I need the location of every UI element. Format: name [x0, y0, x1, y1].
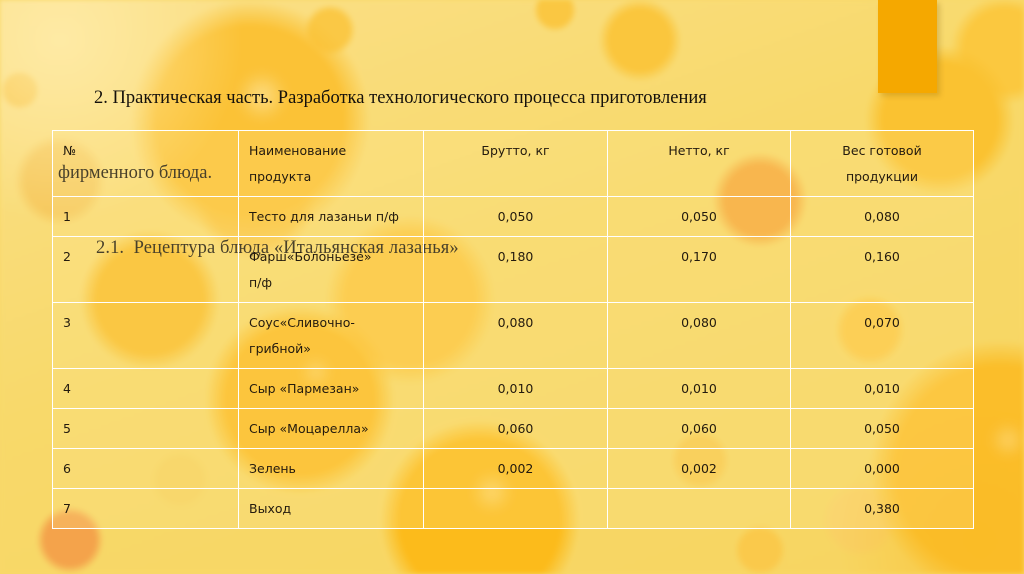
- slide-canvas: 2. Практическая часть. Разработка технол…: [0, 0, 1024, 574]
- row-num-cell: 6: [53, 449, 239, 489]
- table-row: 1 Тесто для лазаньи п/ф 0,050 0,050 0,08…: [53, 197, 974, 237]
- row-output-cell: 0,160: [791, 237, 974, 303]
- row-name: Зелень: [249, 461, 296, 476]
- row-output: 0,010: [791, 369, 973, 408]
- row-name-part1: Фарш: [249, 249, 287, 264]
- row-netto-cell: 0,010: [608, 369, 791, 409]
- table-header-row: № Наименование продукта Брутто, кг Нетто…: [53, 131, 974, 197]
- row-num-cell: 2: [53, 237, 239, 303]
- table-row: 5 Сыр «Моцарелла» 0,060 0,060 0,050: [53, 409, 974, 449]
- row-brutto-cell: 0,080: [424, 303, 608, 369]
- row-netto-cell: 0,080: [608, 303, 791, 369]
- row-brutto: 0,010: [424, 369, 607, 408]
- row-num: 1: [53, 197, 238, 236]
- row-brutto-cell: 0,050: [424, 197, 608, 237]
- row-output-cell: 0,080: [791, 197, 974, 237]
- row-num-cell: 4: [53, 369, 239, 409]
- row-brutto: 0,080: [424, 303, 607, 342]
- row-name-cell: Сыр «Пармезан»: [239, 369, 424, 409]
- table-row: 6 Зелень 0,002 0,002 0,000: [53, 449, 974, 489]
- header-netto-label: Нетто, кг: [608, 131, 790, 170]
- row-num-cell: 3: [53, 303, 239, 369]
- row-netto: 0,050: [608, 197, 790, 236]
- row-netto: 0,080: [608, 303, 790, 342]
- recipe-table: № Наименование продукта Брутто, кг Нетто…: [52, 130, 974, 529]
- row-num: 3: [53, 303, 238, 342]
- row-output-cell: 0,050: [791, 409, 974, 449]
- row-name-part2: «Сливочно-: [280, 315, 355, 330]
- table-row: 7 Выход 0,380: [53, 489, 974, 529]
- row-output-cell: 0,380: [791, 489, 974, 529]
- row-brutto-cell: 0,060: [424, 409, 608, 449]
- row-brutto: 0,180: [424, 237, 607, 276]
- row-output: 0,000: [791, 449, 973, 488]
- row-output-cell: 0,000: [791, 449, 974, 489]
- row-netto-cell: 0,002: [608, 449, 791, 489]
- row-output: 0,380: [791, 489, 973, 528]
- header-brutto-label: Брутто, кг: [424, 131, 607, 170]
- header-output-line2: продукции: [801, 164, 963, 190]
- header-num-label: №: [53, 131, 238, 170]
- row-num: 4: [53, 369, 238, 408]
- row-netto: 0,002: [608, 449, 790, 488]
- row-name-part3: грибной»: [249, 341, 311, 356]
- row-name-part1: Соус: [249, 315, 280, 330]
- header-name-line1: Наименование: [249, 138, 413, 164]
- row-brutto-cell: 0,010: [424, 369, 608, 409]
- row-output: 0,160: [791, 237, 973, 276]
- row-num-cell: 1: [53, 197, 239, 237]
- header-cell-output: Вес готовой продукции: [791, 131, 974, 197]
- row-brutto: [424, 489, 607, 502]
- row-name-cell: Тесто для лазаньи п/ф: [239, 197, 424, 237]
- header-output-line1: Вес готовой: [801, 138, 963, 164]
- table-row: 2 Фарш«Болоньезе» п/ф 0,180 0,170 0,160: [53, 237, 974, 303]
- row-name-cell: Выход: [239, 489, 424, 529]
- table-row: 3 Соус«Сливочно- грибной» 0,080 0,080 0,…: [53, 303, 974, 369]
- row-name: Выход: [249, 501, 291, 516]
- row-num: 6: [53, 449, 238, 488]
- header-cell-num: №: [53, 131, 239, 197]
- row-brutto: 0,002: [424, 449, 607, 488]
- row-brutto: 0,060: [424, 409, 607, 448]
- row-output-cell: 0,010: [791, 369, 974, 409]
- header-name-line2: продукта: [249, 164, 413, 190]
- header-cell-netto: Нетто, кг: [608, 131, 791, 197]
- row-netto-cell: [608, 489, 791, 529]
- row-netto-cell: 0,170: [608, 237, 791, 303]
- row-netto: 0,170: [608, 237, 790, 276]
- row-name-cell: Сыр «Моцарелла»: [239, 409, 424, 449]
- row-num: 5: [53, 409, 238, 448]
- row-netto: [608, 489, 790, 502]
- row-name: Сыр «Моцарелла»: [249, 421, 369, 436]
- row-brutto-cell: 0,002: [424, 449, 608, 489]
- row-num-cell: 7: [53, 489, 239, 529]
- row-num: 7: [53, 489, 238, 528]
- row-num: 2: [53, 237, 238, 276]
- row-brutto-cell: 0,180: [424, 237, 608, 303]
- row-output: 0,050: [791, 409, 973, 448]
- row-netto: 0,060: [608, 409, 790, 448]
- row-output: 0,070: [791, 303, 973, 342]
- row-name: Тесто для лазаньи п/ф: [249, 209, 399, 224]
- header-cell-name: Наименование продукта: [239, 131, 424, 197]
- row-netto-cell: 0,050: [608, 197, 791, 237]
- heading-line-1: 2. Практическая часть. Разработка технол…: [58, 86, 918, 111]
- row-output-cell: 0,070: [791, 303, 974, 369]
- row-brutto-cell: [424, 489, 608, 529]
- row-netto-cell: 0,060: [608, 409, 791, 449]
- row-name-cell: Соус«Сливочно- грибной»: [239, 303, 424, 369]
- row-name-cell: Зелень: [239, 449, 424, 489]
- row-netto: 0,010: [608, 369, 790, 408]
- header-cell-brutto: Брутто, кг: [424, 131, 608, 197]
- row-name-part3: п/ф: [249, 275, 272, 290]
- table-row: 4 Сыр «Пармезан» 0,010 0,010 0,010: [53, 369, 974, 409]
- row-brutto: 0,050: [424, 197, 607, 236]
- row-name-cell: Фарш«Болоньезе» п/ф: [239, 237, 424, 303]
- row-output: 0,080: [791, 197, 973, 236]
- row-num-cell: 5: [53, 409, 239, 449]
- row-name-part2: «Болоньезе»: [287, 249, 372, 264]
- row-name: Сыр «Пармезан»: [249, 381, 359, 396]
